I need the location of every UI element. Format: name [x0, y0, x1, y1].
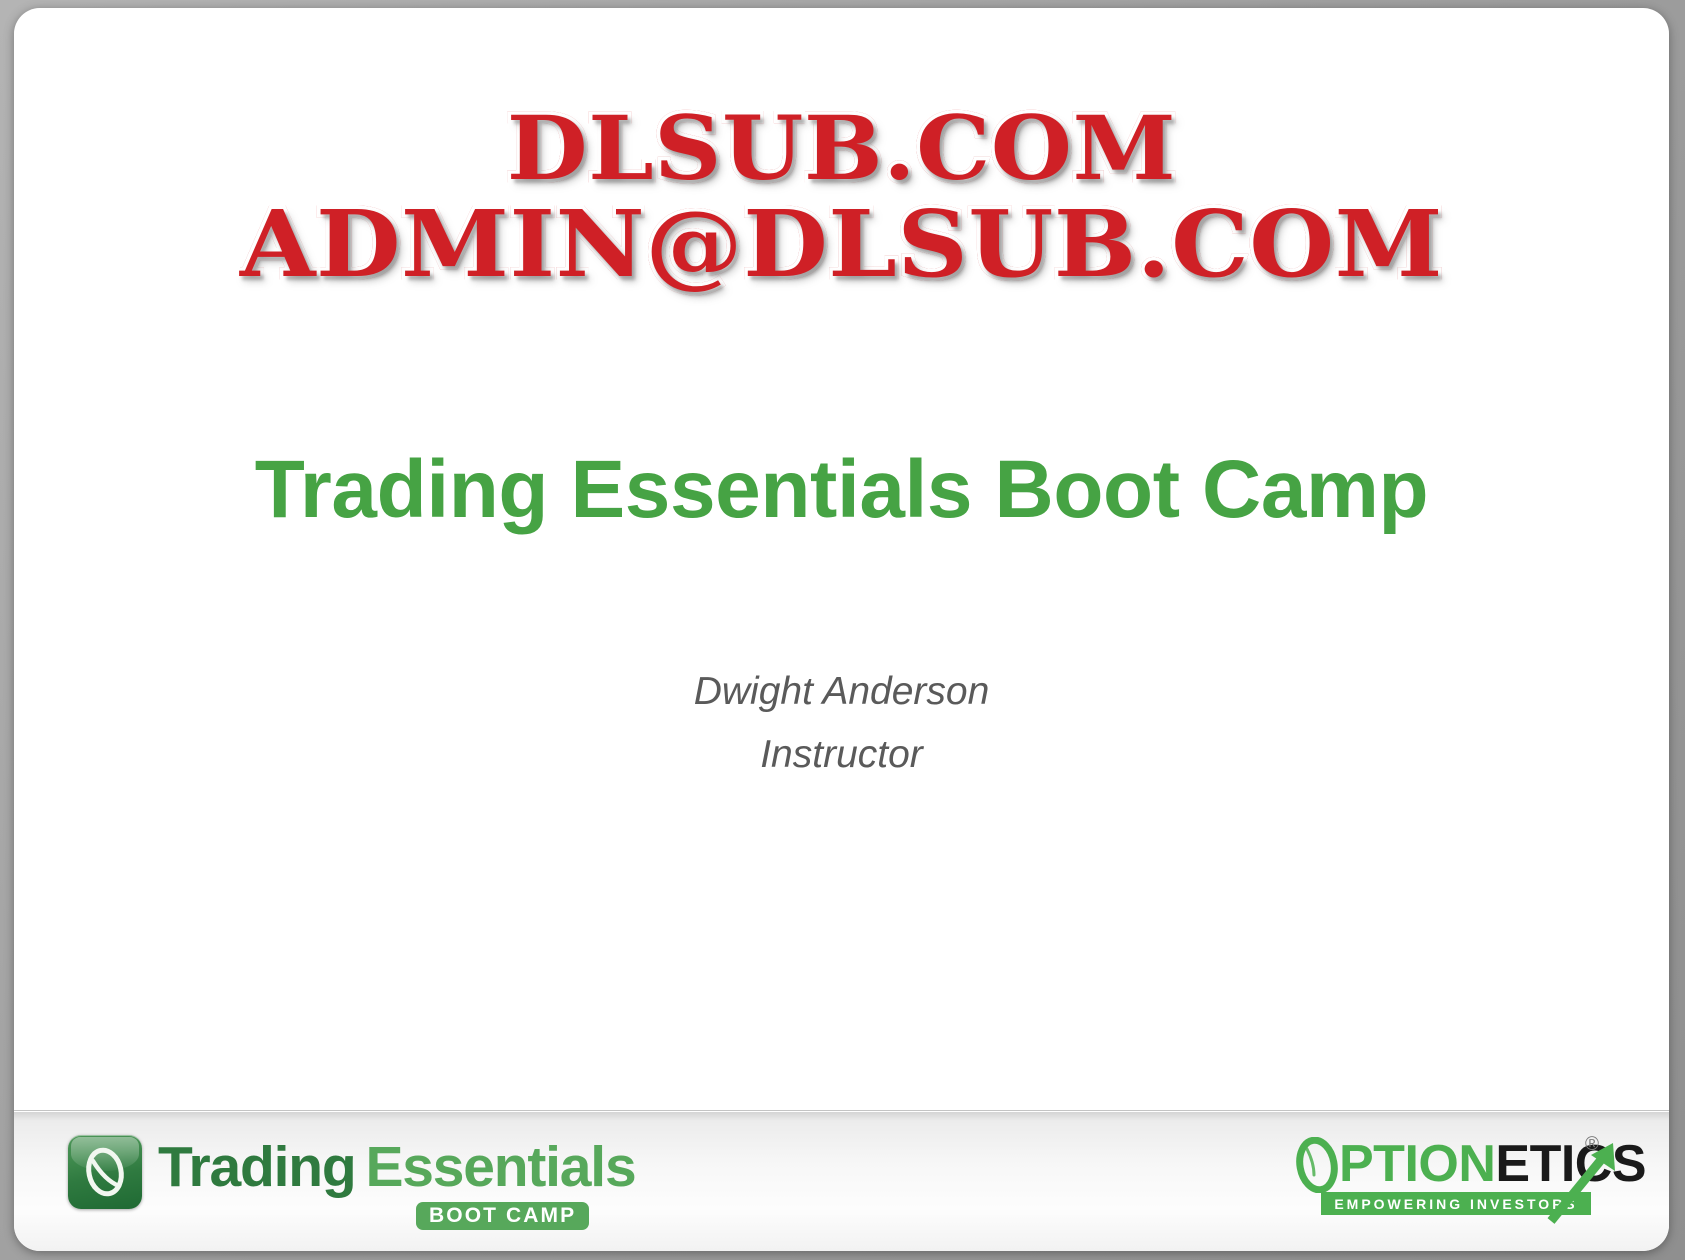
- optionetics-word-etics: ETICS: [1495, 1135, 1646, 1193]
- optionetics-tagline: EMPOWERING INVESTORS: [1334, 1197, 1577, 1211]
- optionetics-leading-o-icon: [1295, 1137, 1339, 1193]
- presentation-slide: DLSUB.COM ADMIN@DLSUB.COM Trading Essent…: [14, 8, 1669, 1251]
- slide-title: Trading Essentials Boot Camp: [14, 445, 1669, 535]
- boot-camp-badge: BOOT CAMP: [416, 1202, 589, 1230]
- slide-desk-background: DLSUB.COM ADMIN@DLSUB.COM Trading Essent…: [0, 0, 1685, 1260]
- optionetics-o-mark-icon: [68, 1135, 142, 1209]
- watermark-line-email-text: ADMIN@DLSUB.COM: [240, 190, 1443, 298]
- watermark-line-site-text: DLSUB.COM: [507, 96, 1176, 200]
- trading-essentials-mark-icon: [68, 1135, 142, 1209]
- optionetics-word-option: PTION: [1295, 1135, 1495, 1193]
- optionetics-word-option-text: PTION: [1339, 1135, 1495, 1193]
- boot-camp-badge-label: BOOT CAMP: [429, 1205, 576, 1226]
- presenter-name: Dwight Anderson: [14, 660, 1669, 723]
- presenter-role: Instructor: [14, 723, 1669, 786]
- registered-trademark-icon: ®: [1585, 1135, 1599, 1154]
- watermark-line-site: DLSUB.COM: [14, 104, 1669, 192]
- slide-footer-band: TradingEssentials BOOT CAMP PTIONETICS ®…: [14, 1110, 1669, 1251]
- trading-essentials-word-trading: Trading: [158, 1135, 355, 1199]
- optionetics-logo: PTIONETICS ® EMPOWERING INVESTORS: [1295, 1135, 1613, 1227]
- trading-essentials-logo: TradingEssentials BOOT CAMP: [68, 1135, 635, 1230]
- optionetics-tagline-bar: EMPOWERING INVESTORS: [1321, 1192, 1591, 1215]
- watermark-overlay: DLSUB.COM ADMIN@DLSUB.COM: [14, 104, 1669, 290]
- presenter-block: Dwight Anderson Instructor: [14, 660, 1669, 786]
- trading-essentials-word-essentials: Essentials: [365, 1135, 635, 1199]
- trading-essentials-wordmark: TradingEssentials: [158, 1139, 635, 1196]
- trading-essentials-wordmark-group: TradingEssentials BOOT CAMP: [158, 1135, 635, 1230]
- watermark-line-email: ADMIN@DLSUB.COM: [14, 198, 1669, 290]
